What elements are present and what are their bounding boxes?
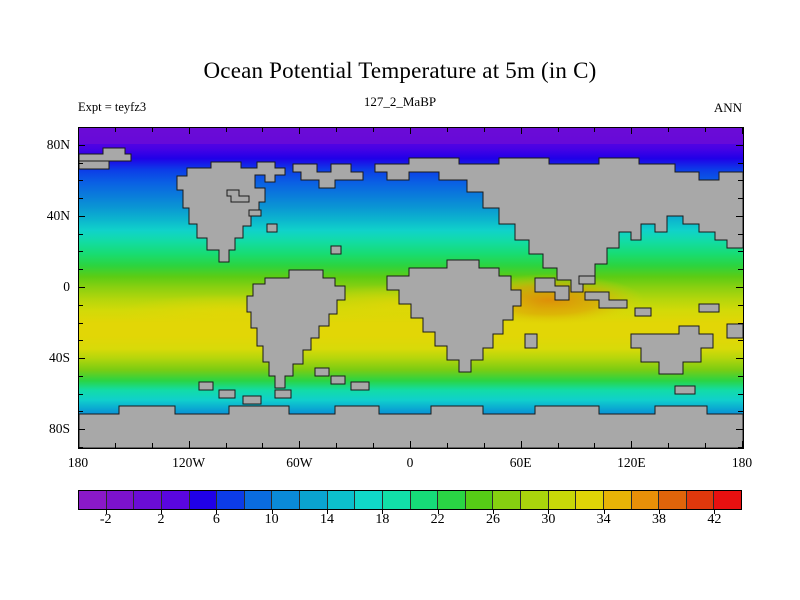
axis-tick [738,163,743,164]
colorbar-cell[interactable] [714,491,741,509]
land-island-atlantic-mid [331,246,341,254]
axis-tick [78,287,85,288]
axis-tick [78,269,83,270]
axis-tick [521,127,522,134]
colorbar-cell[interactable] [411,491,439,509]
colorbar-label: 34 [597,512,611,528]
colorbar-cell[interactable] [328,491,356,509]
axis-tick [594,127,595,132]
colorbar-cell[interactable] [383,491,411,509]
axis-tick [78,394,83,395]
x-axis-label: 180 [732,455,752,471]
colorbar-cell[interactable] [466,491,494,509]
axis-tick [336,127,337,132]
axis-tick [115,443,116,448]
axis-tick [558,443,559,448]
axis-tick [299,441,300,448]
axis-tick [705,127,706,132]
axis-tick [558,127,559,132]
map-svg [79,128,743,448]
y-axis-label: 40S [28,350,70,366]
axis-tick [78,234,83,235]
land-tierra-del-fuego [275,390,291,398]
land-island-southern-7 [675,386,695,394]
axis-tick [152,443,153,448]
colorbar-label: 18 [375,512,389,528]
y-axis-label: 80S [28,421,70,437]
colorbar-cell[interactable] [355,491,383,509]
axis-tick [410,441,411,448]
x-axis-label: 180 [68,455,88,471]
axis-tick [78,216,85,217]
colorbar-cell[interactable] [493,491,521,509]
y-axis-label: 40N [28,208,70,224]
colorbar-cell[interactable] [549,491,577,509]
figure-canvas: Ocean Potential Temperature at 5m (in C)… [0,0,800,600]
axis-tick [631,127,632,134]
land-island-southern-1 [199,382,213,390]
land-madagascar [525,334,537,348]
land-island-southern-6 [351,382,369,390]
colorbar-cell[interactable] [162,491,190,509]
axis-tick [78,447,83,448]
land-island-pacific [699,304,719,312]
colorbar-cell[interactable] [521,491,549,509]
land-northwest-shelf [79,161,109,169]
axis-tick [738,234,743,235]
axis-tick [738,323,743,324]
axis-tick [78,323,83,324]
colorbar-cell[interactable] [245,491,273,509]
axis-tick [336,443,337,448]
land-island-small-atlantic [267,224,277,232]
axis-tick [705,443,706,448]
axis-tick [738,376,743,377]
axis-tick [152,127,153,132]
x-axis-label: 60W [286,455,312,471]
land-island-pacific-east [727,324,743,338]
colorbar[interactable] [78,490,742,510]
axis-tick [78,305,83,306]
axis-tick [668,127,669,132]
colorbar-cell[interactable] [659,491,687,509]
axis-tick [742,127,743,134]
colorbar-cell[interactable] [190,491,218,509]
colorbar-cell[interactable] [300,491,328,509]
axis-tick [189,441,190,448]
axis-tick [299,127,300,134]
colorbar-cell[interactable] [134,491,162,509]
axis-tick [373,127,374,132]
page-title: Ocean Potential Temperature at 5m (in C) [0,58,800,84]
land-island-se-asia [579,276,595,284]
land-island-southern-4 [315,368,329,376]
axis-tick [78,376,83,377]
x-axis-label: 0 [407,455,414,471]
colorbar-cell[interactable] [438,491,466,509]
colorbar-label: 10 [265,512,279,528]
colorbar-label: 38 [652,512,666,528]
axis-tick [738,305,743,306]
axis-tick [736,287,743,288]
axis-tick [594,443,595,448]
axis-tick [78,127,79,134]
land-island-southern-5 [331,376,345,384]
colorbar-label: 22 [431,512,445,528]
axis-tick [78,198,83,199]
colorbar-label: 14 [320,512,334,528]
colorbar-label: 6 [213,512,220,528]
axis-tick [78,358,85,359]
colorbar-label: 42 [707,512,721,528]
axis-tick [668,443,669,448]
experiment-label: Expt = teyfz3 [78,100,146,115]
land-island-atlantic-north [249,210,261,216]
axis-tick [738,251,743,252]
colorbar-cell[interactable] [604,491,632,509]
axis-tick [738,198,743,199]
axis-tick [447,127,448,132]
axis-tick [736,216,743,217]
colorbar-cell[interactable] [632,491,660,509]
axis-tick [78,163,83,164]
arctic-cold-band [79,128,743,144]
colorbar-label: 26 [486,512,500,528]
axis-tick [189,127,190,134]
axis-tick [262,443,263,448]
axis-tick [78,429,85,430]
map-plot-area [78,127,744,449]
colorbar-cell[interactable] [272,491,300,509]
x-axis-label: 120W [172,455,205,471]
axis-tick [78,251,83,252]
axis-tick [738,269,743,270]
axis-tick [410,127,411,134]
axis-tick [78,411,83,412]
axis-tick [447,443,448,448]
axis-tick [738,127,743,128]
colorbar-label: -2 [100,512,112,528]
axis-tick [738,394,743,395]
axis-tick [738,411,743,412]
axis-tick [736,358,743,359]
axis-tick [78,127,83,128]
colorbar-cell[interactable] [107,491,135,509]
x-axis-label: 60E [510,455,532,471]
axis-tick [738,340,743,341]
axis-tick [738,447,743,448]
land-island-southern-2 [219,390,235,398]
axis-tick [373,443,374,448]
land-island-southern-3 [243,396,261,404]
axis-tick [226,443,227,448]
colorbar-cell[interactable] [576,491,604,509]
axis-tick [78,340,83,341]
axis-tick [738,180,743,181]
axis-tick [484,127,485,132]
axis-tick [226,127,227,132]
colorbar-label: 30 [541,512,555,528]
axis-tick [521,441,522,448]
axis-tick [78,180,83,181]
axis-tick [484,443,485,448]
y-axis-label: 80N [28,137,70,153]
axis-tick [78,145,85,146]
colorbar-cell[interactable] [217,491,245,509]
colorbar-cell[interactable] [687,491,715,509]
colorbar-cell[interactable] [79,491,107,509]
x-axis-label: 120E [617,455,646,471]
axis-tick [736,145,743,146]
colorbar-label: 2 [158,512,165,528]
axis-tick [262,127,263,132]
axis-tick [115,127,116,132]
season-label: ANN [714,100,742,116]
y-axis-label: 0 [28,279,70,295]
axis-tick [631,441,632,448]
axis-tick [736,429,743,430]
land-new-guinea [635,308,651,316]
